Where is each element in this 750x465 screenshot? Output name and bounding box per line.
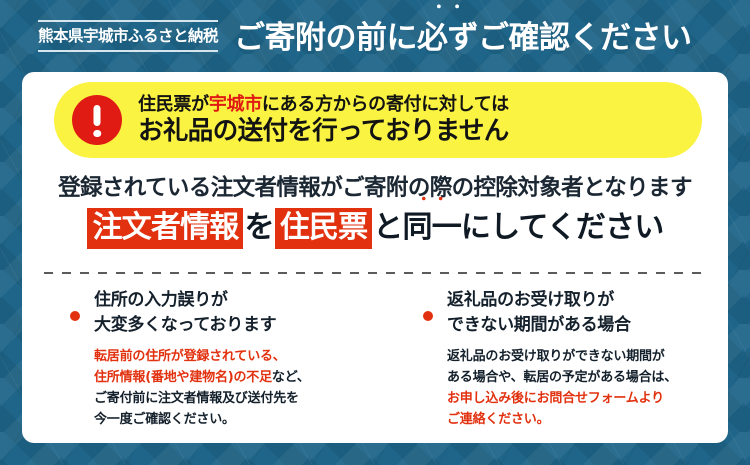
- statement-line2: 注文者情報を住民票と同一にしてください: [22, 209, 728, 247]
- statement-emphasis: 同一: [403, 210, 461, 245]
- note-body-line2: ある場合や、転居の予定がある場合は、: [447, 367, 728, 388]
- bullet-dot-icon: [70, 311, 80, 321]
- note-body-line3: ご寄付前に注文者情報及び送付先を: [94, 388, 375, 409]
- warning-line1-b: にある方からの寄付に対しては: [262, 94, 509, 115]
- notes-columns: 住所の入力誤りが 大変多くなっております 転居前の住所が登録されている、 住所情…: [22, 288, 728, 430]
- note-heading: 返礼品のお受け取りが できない期間がある場合: [447, 288, 728, 337]
- statement-line1: 登録されている注文者情報がご寄附の際の控除対象者となります: [22, 170, 728, 202]
- note-heading-line2: できない期間がある場合: [447, 313, 728, 338]
- note-column-address: 住所の入力誤りが 大変多くなっております 転居前の住所が登録されている、 住所情…: [22, 288, 375, 430]
- brand-block: 熊本県宇城市ふるさと納税: [38, 20, 218, 52]
- note-heading-line2: 大変多くなっております: [94, 313, 375, 338]
- page-title-part1: ご寄附の前に: [234, 20, 417, 56]
- page-title: ご寄附の前に必ずご確認ください: [234, 23, 692, 54]
- note-body-line1: 返礼品のお受け取りができない期間が: [447, 346, 728, 367]
- note-body: 返礼品のお受け取りができない期間が ある場合や、転居の予定がある場合は、 お申し…: [447, 346, 728, 430]
- bullet-dot-icon: [423, 311, 433, 321]
- warning-line1-highlight: 宇城市: [209, 94, 262, 115]
- note-column-delivery: 返礼品のお受け取りが できない期間がある場合 返礼品のお受け取りができない期間が…: [375, 288, 728, 430]
- warning-line1-a: 住民票が: [138, 94, 209, 115]
- warning-banner-line2: お礼品の送付を行っておりません: [138, 117, 509, 146]
- warning-banner: 住民票が宇城市にある方からの寄付に対しては お礼品の送付を行っておりません: [54, 82, 702, 158]
- note-body-line4: ご連絡ください。: [447, 409, 728, 430]
- brand-text: 熊本県宇城市ふるさと納税: [38, 28, 218, 45]
- statement-tail: にしてください: [461, 210, 664, 245]
- note-body-line1: 転居前の住所が登録されている、: [94, 346, 375, 367]
- warning-banner-line1: 住民票が宇城市にある方からの寄付に対しては: [138, 94, 509, 117]
- highlight-box-residence-certificate: 住民票: [275, 208, 373, 249]
- note-heading-line1: 住所の入力誤りが: [94, 288, 375, 313]
- page-title-emphasis: 必ず: [417, 20, 478, 56]
- note-heading-line1: 返礼品のお受け取りが: [447, 288, 728, 313]
- statement-connector1: を: [244, 210, 273, 245]
- exclamation-circle-icon: [72, 95, 122, 145]
- note-body: 転居前の住所が登録されている、 住所情報(番地や建物名)の不足など、 ご寄付前に…: [94, 346, 375, 430]
- note-heading: 住所の入力誤りが 大変多くなっております: [94, 288, 375, 337]
- page-header: 熊本県宇城市ふるさと納税 ご寄附の前に必ずご確認ください: [0, 0, 750, 72]
- note-body-line2: 住所情報(番地や建物名)の不足など、: [94, 367, 375, 388]
- note-body-line3: お申し込み後にお問合せフォームより: [447, 388, 728, 409]
- dashed-divider: [44, 272, 706, 274]
- page-title-part2: ご確認ください: [478, 20, 692, 56]
- highlight-box-orderer-info: 注文者情報: [87, 208, 243, 249]
- warning-banner-text: 住民票が宇城市にある方からの寄付に対しては お礼品の送付を行っておりません: [138, 94, 509, 146]
- content-card: 住民票が宇城市にある方からの寄付に対しては お礼品の送付を行っておりません 登録…: [22, 72, 728, 443]
- note-body-line4: 今一度ご確認ください。: [94, 409, 375, 430]
- statement-connector2: と: [373, 210, 402, 245]
